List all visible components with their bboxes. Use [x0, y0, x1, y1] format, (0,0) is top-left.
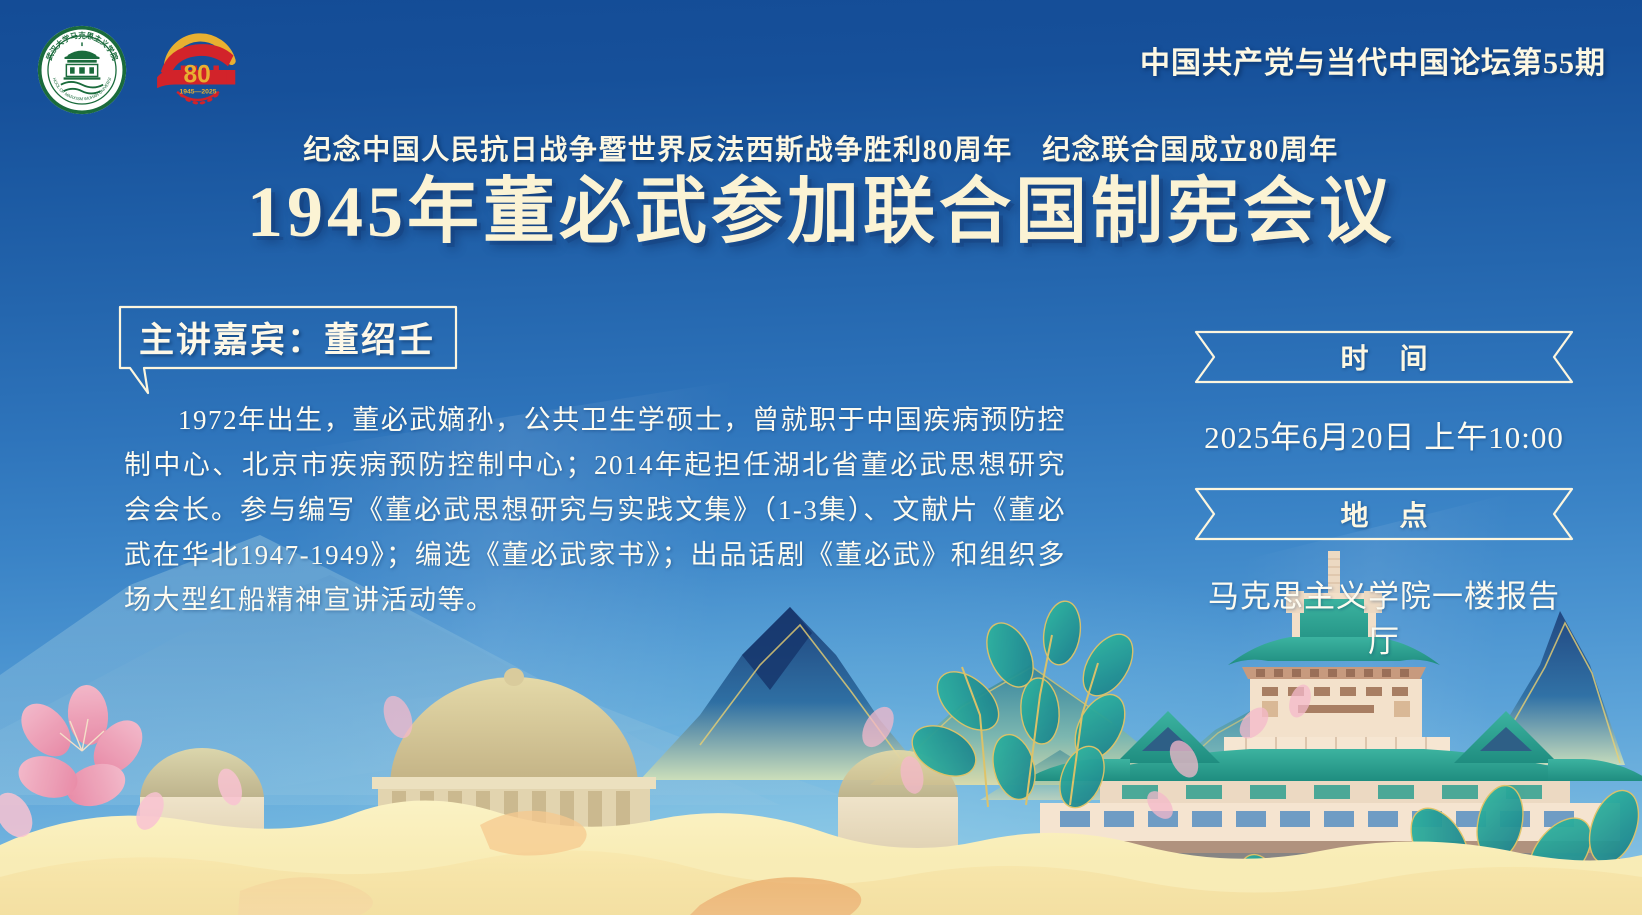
tropical-leaves-right	[1231, 781, 1642, 915]
place-value: 马克思主义学院一楼报告厅	[1194, 547, 1574, 691]
speaker-banner-label: 主讲嘉宾：董绍壬	[118, 305, 456, 370]
svg-text:80: 80	[183, 62, 210, 89]
wuhan-university-marxism-school-logo: 武汉大学马克思主义学院 SCHOOL OF MARXISM WUHAN UNIV…	[36, 24, 128, 116]
forum-series-label: 中国共产党与当代中国论坛第55期	[1140, 38, 1606, 82]
80th-anniversary-emblem: 80 1945—2025	[148, 24, 240, 116]
place-ribbon-banner: 地 点	[1194, 487, 1574, 541]
time-ribbon-banner: 时 间	[1194, 330, 1574, 384]
speaker-bio-text: 1972年出生，董必武嫡孙，公共卫生学硕士，曾就职于中国疾病预防控制中心、北京市…	[124, 398, 1066, 623]
place-label: 地 点	[1194, 487, 1574, 541]
time-label: 时 间	[1194, 330, 1574, 384]
time-value: 2025年6月20日 上午10:00	[1194, 390, 1574, 487]
commemoration-subtitle: 纪念中国人民抗日战争暨世界反法西斯战争胜利80周年 纪念联合国成立80周年	[0, 128, 1642, 168]
poster-main-title: 1945年董必武参加联合国制宪会议	[0, 176, 1642, 249]
light-streak-decoration	[50, 664, 769, 915]
poster-canvas: 武汉大学马克思主义学院 SCHOOL OF MARXISM WUHAN UNIV…	[0, 0, 1642, 915]
event-info-column: 时 间 2025年6月20日 上午10:00 地 点 马克思主义学院一楼报告厅	[1194, 330, 1574, 691]
wuhan-university-domed-auditorium	[140, 668, 958, 915]
speaker-banner: 主讲嘉宾：董绍壬	[118, 305, 456, 370]
logo-group: 武汉大学马克思主义学院 SCHOOL OF MARXISM WUHAN UNIV…	[36, 24, 240, 116]
tropical-leaves-cluster	[904, 599, 1143, 814]
cherry-blossom-cluster	[0, 682, 1315, 844]
svg-text:1945—2025: 1945—2025	[179, 89, 216, 96]
